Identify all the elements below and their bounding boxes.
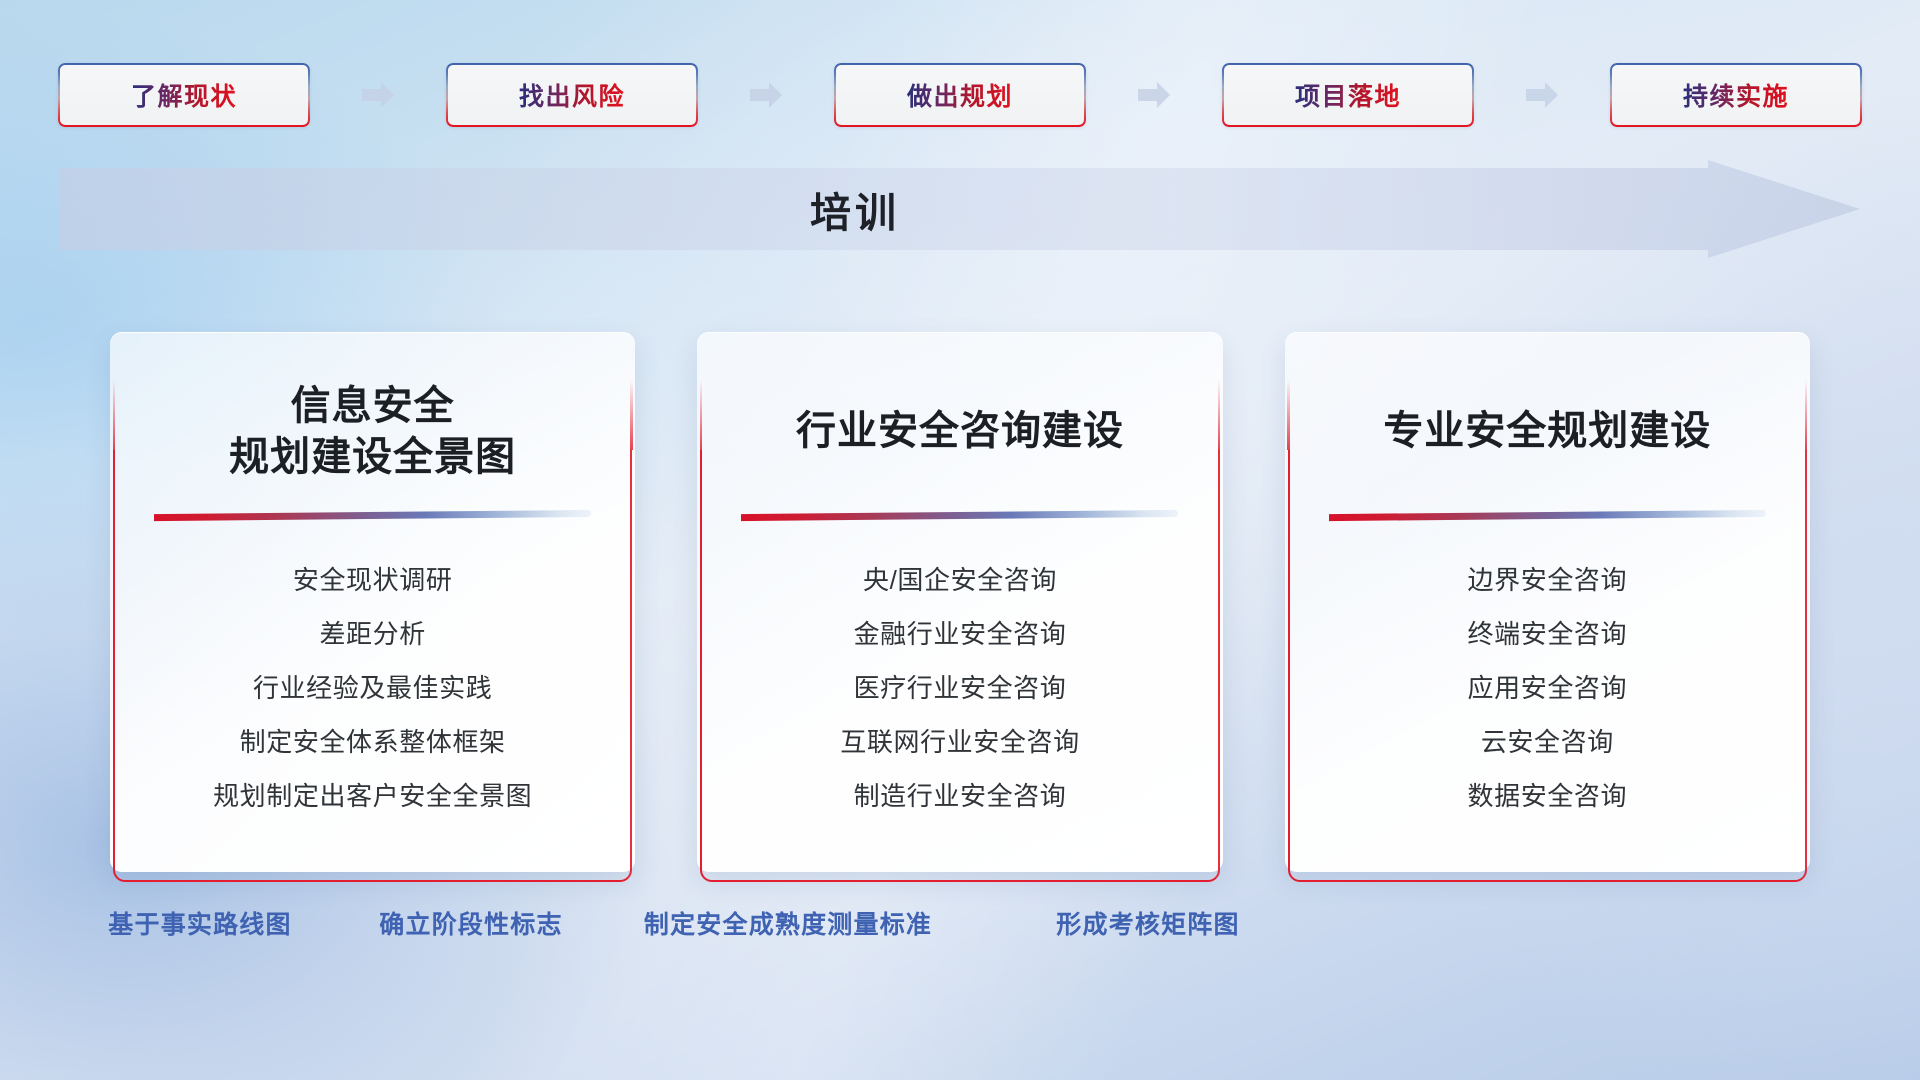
card-divider xyxy=(1329,510,1766,521)
footer-tag-2: 确立阶段性标志 xyxy=(379,905,562,941)
card-group: 信息安全 规划建设全景图 安全现状调研 差距分析 行业经验及最佳实践 制定安全体… xyxy=(110,332,1810,872)
step-box-3[interactable]: 做出规划 xyxy=(834,63,1086,127)
card-item-list: 边界安全咨询 终端安全咨询 应用安全咨询 云安全咨询 数据安全咨询 xyxy=(1311,553,1784,824)
list-item: 金融行业安全咨询 xyxy=(723,607,1196,661)
card-item-list: 央/国企安全咨询 金融行业安全咨询 医疗行业安全咨询 互联网行业安全咨询 制造行… xyxy=(723,553,1196,824)
card-title: 信息安全 规划建设全景图 xyxy=(229,380,516,484)
card-item-list: 安全现状调研 差距分析 行业经验及最佳实践 制定安全体系整体框架 规划制定出客户… xyxy=(136,553,609,824)
list-item: 差距分析 xyxy=(136,607,609,661)
footer-tag-1: 基于事实路线图 xyxy=(108,905,291,941)
step-label-3: 做出规划 xyxy=(907,77,1013,113)
process-step-row: 了解现状 找出风险 做出规划 项目落地 xyxy=(58,62,1862,128)
list-item: 行业经验及最佳实践 xyxy=(136,661,609,715)
list-item: 制定安全体系整体框架 xyxy=(136,715,609,769)
list-item: 边界安全咨询 xyxy=(1311,553,1784,607)
list-item: 云安全咨询 xyxy=(1311,715,1784,769)
banner-title: 培训 xyxy=(60,160,1650,258)
footer-tag-4: 形成考核矩阵图 xyxy=(1056,905,1239,941)
slide-canvas: 了解现状 找出风险 做出规划 项目落地 xyxy=(0,0,1920,1080)
card-divider xyxy=(154,510,591,521)
card-title: 行业安全咨询建设 xyxy=(796,380,1124,484)
footer-tag-3: 制定安全成熟度测量标准 xyxy=(644,905,932,941)
list-item: 医疗行业安全咨询 xyxy=(723,661,1196,715)
step-label-4: 项目落地 xyxy=(1295,77,1401,113)
list-item: 应用安全咨询 xyxy=(1311,661,1784,715)
step-arrow-icon-1 xyxy=(361,80,395,110)
list-item: 安全现状调研 xyxy=(136,553,609,607)
card-industry-security-consulting[interactable]: 行业安全咨询建设 央/国企安全咨询 金融行业安全咨询 医疗行业安全咨询 互联网行… xyxy=(697,332,1222,872)
card-title: 专业安全规划建设 xyxy=(1383,380,1711,484)
step-box-1[interactable]: 了解现状 xyxy=(58,63,310,127)
list-item: 制造行业安全咨询 xyxy=(723,769,1196,823)
list-item: 数据安全咨询 xyxy=(1311,769,1784,823)
step-box-4[interactable]: 项目落地 xyxy=(1222,63,1474,127)
list-item: 终端安全咨询 xyxy=(1311,607,1784,661)
step-arrow-icon-3 xyxy=(1137,80,1171,110)
step-label-1: 了解现状 xyxy=(131,77,237,113)
card-professional-security-planning[interactable]: 专业安全规划建设 边界安全咨询 终端安全咨询 应用安全咨询 云安全咨询 数据安全… xyxy=(1285,332,1810,872)
card-divider xyxy=(741,510,1178,521)
training-banner: 培训 xyxy=(60,160,1860,258)
step-label-2: 找出风险 xyxy=(519,77,625,113)
step-box-5[interactable]: 持续实施 xyxy=(1610,63,1862,127)
step-label-5: 持续实施 xyxy=(1683,77,1789,113)
list-item: 互联网行业安全咨询 xyxy=(723,715,1196,769)
step-arrow-icon-2 xyxy=(749,80,783,110)
card-info-security-panorama[interactable]: 信息安全 规划建设全景图 安全现状调研 差距分析 行业经验及最佳实践 制定安全体… xyxy=(110,332,635,872)
step-box-2[interactable]: 找出风险 xyxy=(446,63,698,127)
step-arrow-icon-4 xyxy=(1525,80,1559,110)
footer-tag-row: 基于事实路线图 确立阶段性标志 制定安全成熟度测量标准 形成考核矩阵图 xyxy=(0,905,1920,945)
list-item: 央/国企安全咨询 xyxy=(723,553,1196,607)
list-item: 规划制定出客户安全全景图 xyxy=(136,769,609,823)
